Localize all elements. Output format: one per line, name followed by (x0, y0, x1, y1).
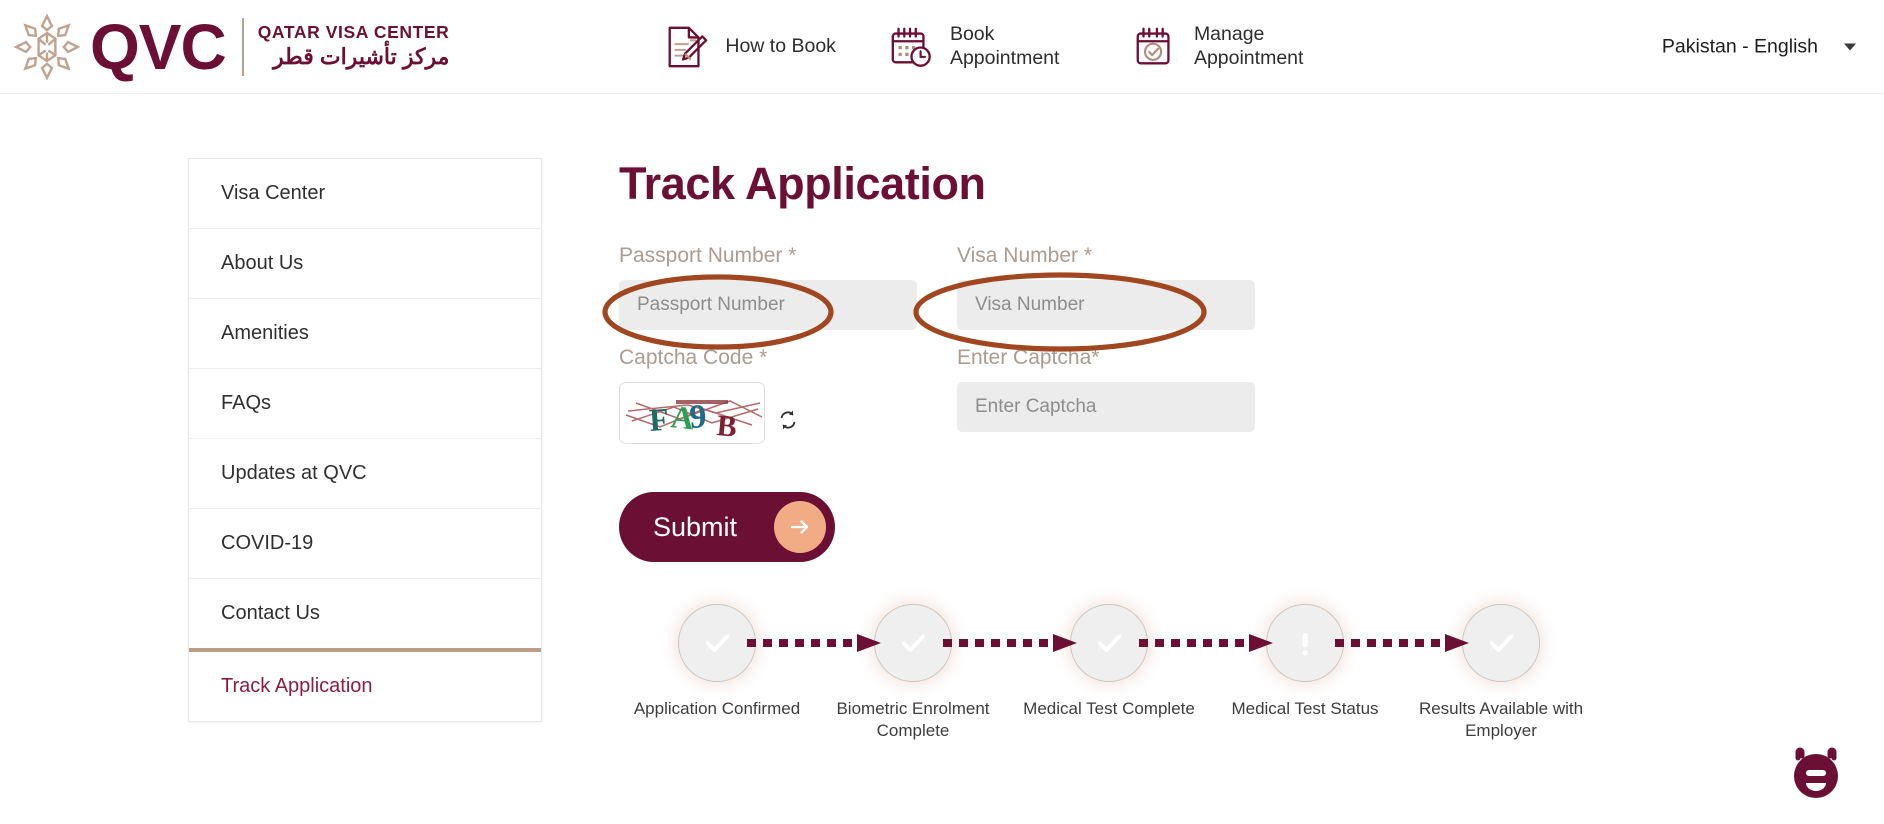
dashed-arrow-icon (745, 632, 885, 654)
submit-button[interactable]: Submit (619, 492, 835, 562)
refresh-icon[interactable] (779, 409, 797, 431)
application-status-tracker: Application Confirmed Biometric Enrolmen… (619, 604, 1603, 742)
tracker-label-medical-test-complete: Medical Test Complete (1011, 698, 1207, 720)
language-selector[interactable]: Pakistan - English (1662, 35, 1856, 58)
form-row-identifiers: Passport Number * Visa Number * (619, 244, 1884, 330)
captcha-code-group: Captcha Code * (619, 346, 917, 444)
chevron-down-icon (1844, 43, 1856, 50)
brand-divider (242, 18, 244, 76)
document-pencil-icon (663, 24, 709, 70)
nav-item-manage-appointment[interactable]: Manage Appointment (1132, 23, 1324, 71)
brand-name-arabic: مركز تأشيرات قطر (258, 45, 450, 70)
visa-number-input[interactable] (957, 280, 1255, 330)
language-selected-label: Pakistan - English (1662, 35, 1818, 58)
tracker-label-results-available-with-employer: Results Available with Employer (1403, 698, 1599, 742)
tracker-label-application-confirmed: Application Confirmed (619, 698, 815, 720)
sidebar-item-faqs[interactable]: FAQs (189, 369, 541, 439)
dashed-arrow-icon (1137, 632, 1277, 654)
form-row-captcha: Captcha Code * (619, 346, 1884, 444)
passport-number-input[interactable] (619, 280, 917, 330)
tracker-label-biometric-enrolment-complete: Biometric Enrolment Complete (815, 698, 1011, 742)
brand-logo[interactable]: QVC QATAR VISA CENTER مركز تأشيرات قطر (8, 12, 449, 82)
enter-captcha-input[interactable] (957, 382, 1255, 432)
svg-text:B: B (715, 409, 738, 444)
sidebar-item-amenities[interactable]: Amenities (189, 299, 541, 369)
header-nav: How to Book Book Appointment (663, 23, 1324, 71)
sidebar-item-updates-at-qvc[interactable]: Updates at QVC (189, 439, 541, 509)
visa-number-field-group: Visa Number * (957, 244, 1255, 330)
svg-text:9: 9 (688, 398, 707, 436)
nav-item-how-to-book[interactable]: How to Book (663, 24, 836, 70)
page-body: Visa Center About Us Amenities FAQs Upda… (0, 94, 1884, 742)
tracker-step-application-confirmed: Application Confirmed (619, 604, 815, 720)
arrow-right-icon (774, 501, 826, 553)
svg-text:F: F (648, 401, 670, 438)
main-content: Track Application Passport Number * Visa… (593, 158, 1884, 742)
passport-number-field-group: Passport Number * (619, 244, 917, 330)
sidebar-item-covid-19[interactable]: COVID-19 (189, 509, 541, 579)
enter-captcha-group: Enter Captcha* (957, 346, 1255, 444)
captcha-code-label: Captcha Code * (619, 346, 917, 370)
tracker-label-medical-test-status: Medical Test Status (1207, 698, 1403, 720)
tracker-step-results-available-with-employer: Results Available with Employer (1403, 604, 1599, 742)
enter-captcha-label: Enter Captcha* (957, 346, 1255, 370)
calendar-check-icon (1132, 24, 1178, 70)
dashed-arrow-icon (1333, 632, 1473, 654)
nav-label-manage-appointment: Manage Appointment (1194, 23, 1324, 71)
calendar-clock-icon (888, 24, 934, 70)
tracker-step-medical-test-complete: Medical Test Complete (1011, 604, 1207, 720)
nav-label-how-to-book: How to Book (725, 35, 836, 59)
tracker-step-medical-test-status: Medical Test Status (1207, 604, 1403, 720)
chat-bot-icon (1784, 742, 1848, 806)
visa-number-label: Visa Number * (957, 244, 1255, 268)
chat-widget-button[interactable] (1784, 742, 1848, 806)
site-header: QVC QATAR VISA CENTER مركز تأشيرات قطر H… (0, 0, 1884, 94)
passport-number-label: Passport Number * (619, 244, 917, 268)
tracker-step-biometric-enrolment-complete: Biometric Enrolment Complete (815, 604, 1011, 742)
nav-item-book-appointment[interactable]: Book Appointment (888, 23, 1080, 71)
page-title: Track Application (619, 158, 1884, 210)
submit-button-label: Submit (653, 512, 737, 543)
sidebar-item-about-us[interactable]: About Us (189, 229, 541, 299)
brand-wordmark: QVC (90, 15, 226, 79)
nav-label-book-appointment: Book Appointment (950, 23, 1080, 71)
sidebar-nav: Visa Center About Us Amenities FAQs Upda… (188, 158, 542, 722)
captcha-image: F A 9 B (619, 382, 765, 444)
sidebar-item-track-application[interactable]: Track Application (189, 648, 541, 721)
brand-name-english: QATAR VISA CENTER (258, 23, 450, 43)
sidebar-item-visa-center[interactable]: Visa Center (189, 159, 541, 229)
track-application-form: Passport Number * Visa Number * Captcha … (619, 244, 1884, 444)
dashed-arrow-icon (941, 632, 1081, 654)
sidebar-item-contact-us[interactable]: Contact Us (189, 579, 541, 649)
qvc-star-icon (8, 12, 86, 82)
